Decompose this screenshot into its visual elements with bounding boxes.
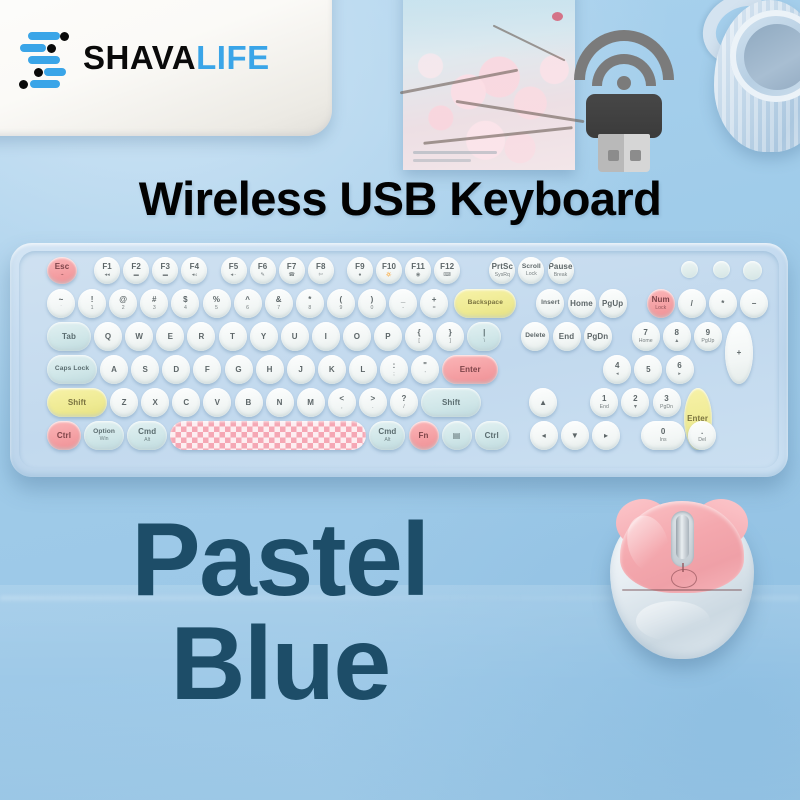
sakura-caption-line bbox=[413, 159, 471, 162]
key-legend: . bbox=[701, 428, 703, 436]
key-legend: F10 bbox=[382, 263, 396, 271]
key-legend: Esc bbox=[55, 263, 70, 271]
key-sublegend: ▬ bbox=[134, 273, 139, 278]
key-1[interactable]: 1End bbox=[590, 388, 618, 417]
key-u[interactable]: U bbox=[281, 322, 309, 351]
key-legend: { bbox=[417, 329, 420, 337]
key-pgup[interactable]: PgUp bbox=[599, 289, 627, 318]
key-sublegend: Lock bbox=[655, 306, 666, 311]
key-[interactable]: !1 bbox=[78, 289, 106, 318]
key-legend: $ bbox=[183, 296, 188, 304]
key-l[interactable]: L bbox=[349, 355, 377, 384]
key-legend: K bbox=[329, 366, 335, 374]
key-sublegend: ✎ bbox=[260, 273, 264, 278]
key-legend: @ bbox=[119, 296, 127, 304]
key-legend: Shift bbox=[68, 399, 86, 407]
key-sublegend: 4 bbox=[184, 306, 187, 311]
key-9[interactable]: 9PgUp bbox=[694, 322, 722, 351]
key-legend: 0 bbox=[661, 428, 666, 436]
key-legend: _ bbox=[401, 296, 406, 304]
key-f[interactable]: F bbox=[193, 355, 221, 384]
page-title: Wireless USB Keyboard bbox=[0, 174, 800, 223]
key-enter[interactable]: Enter bbox=[442, 355, 498, 384]
key-num[interactable]: NumLock bbox=[647, 289, 675, 318]
dongle-usb-connector bbox=[598, 134, 650, 172]
key-legend: % bbox=[213, 296, 220, 304]
keyboard-keywell: Esc⌁F1◂◂F2▬F3▬F4◂◃F5◂··F6✎F7☎F8✄F9●F10🔅F… bbox=[19, 251, 779, 468]
key-legend: Scroll bbox=[522, 264, 541, 271]
key-shift[interactable]: Shift bbox=[47, 388, 107, 417]
key-legend: & bbox=[276, 296, 282, 304]
key-sublegend: ◂◃ bbox=[192, 273, 197, 278]
key-6[interactable]: 6▸ bbox=[666, 355, 694, 384]
key-pause[interactable]: PauseBreak bbox=[548, 257, 574, 284]
key-legend: Pause bbox=[548, 263, 572, 271]
stacked-bars-dots-logo-mark bbox=[14, 28, 70, 86]
key-legend: F5 bbox=[229, 263, 239, 271]
key-legend: 9 bbox=[706, 329, 711, 337]
key-legend: Delete bbox=[525, 333, 545, 340]
key-sublegend: ⌁ bbox=[60, 273, 63, 278]
usb-wireless-dongle-icon bbox=[573, 26, 675, 166]
key-[interactable]: ?/ bbox=[390, 388, 418, 417]
key-7[interactable]: 7Home bbox=[632, 322, 660, 351]
key-sublegend: ✄ bbox=[319, 273, 323, 278]
key-q[interactable]: Q bbox=[94, 322, 122, 351]
key-sublegend: ▼ bbox=[633, 405, 638, 410]
key-sublegend: Ins bbox=[660, 438, 667, 443]
key-legend: U bbox=[292, 333, 298, 341]
key-legend: Shift bbox=[442, 399, 460, 407]
key-[interactable]: &7 bbox=[265, 289, 293, 318]
key-legend: PgDn bbox=[587, 333, 608, 341]
key-y[interactable]: Y bbox=[250, 322, 278, 351]
key-sublegend: ▸ bbox=[678, 372, 681, 377]
round-keycap-wireless-keyboard[interactable]: Esc⌁F1◂◂F2▬F3▬F4◂◃F5◂··F6✎F7☎F8✄F9●F10🔅F… bbox=[10, 243, 788, 477]
brand-logo: SHAVALIFE bbox=[14, 26, 270, 88]
key-[interactable]: ~` bbox=[47, 289, 75, 318]
key-legend: F6 bbox=[258, 263, 268, 271]
dongle-housing bbox=[586, 94, 662, 138]
key-k[interactable]: K bbox=[318, 355, 346, 384]
key-shift[interactable]: Shift bbox=[421, 388, 481, 417]
key-caps-lock[interactable]: Caps Lock bbox=[47, 355, 97, 384]
key-8[interactable]: 8▲ bbox=[663, 322, 691, 351]
key-0[interactable]: 0Ins bbox=[641, 421, 685, 450]
key-legend: W bbox=[135, 333, 143, 341]
key-sublegend: Alt bbox=[384, 438, 390, 443]
key-sublegend: ` bbox=[60, 306, 62, 311]
key-legend: F2 bbox=[131, 263, 141, 271]
key-f8[interactable]: F8✄ bbox=[308, 257, 334, 284]
key-legend: " bbox=[423, 362, 427, 370]
brand-name-primary: SHAVA bbox=[83, 39, 196, 76]
key-x[interactable]: X bbox=[141, 388, 169, 417]
key-legend: F7 bbox=[287, 263, 297, 271]
key-[interactable]: _- bbox=[389, 289, 417, 318]
key-legend: B bbox=[246, 399, 252, 407]
key-legend: Tab bbox=[62, 333, 76, 341]
key-[interactable]: "' bbox=[411, 355, 439, 384]
key-sublegend: ' bbox=[425, 372, 426, 377]
key-legend: Y bbox=[261, 333, 266, 341]
key-legend: F11 bbox=[411, 263, 425, 271]
key-legend: O bbox=[354, 333, 360, 341]
key-legend: Num bbox=[652, 296, 670, 304]
mouse-shell-seam bbox=[622, 589, 742, 591]
sakura-caption-line bbox=[413, 151, 497, 154]
key-legend: ▸ bbox=[604, 432, 608, 440]
key-t[interactable]: T bbox=[219, 322, 247, 351]
key-sublegend: . bbox=[372, 405, 373, 410]
key-option[interactable]: OptionWin bbox=[84, 421, 124, 450]
key-sublegend: ▬ bbox=[163, 273, 168, 278]
key-legend: A bbox=[111, 366, 117, 374]
key-legend: I bbox=[325, 333, 327, 341]
key-sublegend: Lock bbox=[526, 272, 537, 277]
key-o[interactable]: O bbox=[343, 322, 371, 351]
key-e[interactable]: E bbox=[156, 322, 184, 351]
key-[interactable]: += bbox=[420, 289, 448, 318]
key-sublegend: ▲ bbox=[674, 339, 679, 344]
colorway-line-2: Blue bbox=[0, 616, 560, 714]
sakura-bud bbox=[552, 12, 563, 21]
key-n[interactable]: N bbox=[266, 388, 294, 417]
key-z[interactable]: Z bbox=[110, 388, 138, 417]
key-sublegend: 🔅 bbox=[386, 273, 392, 278]
key-legend: Insert bbox=[541, 300, 560, 307]
key-a[interactable]: A bbox=[100, 355, 128, 384]
key-sublegend: ● bbox=[358, 273, 361, 278]
key-[interactable]: ▤ bbox=[442, 421, 472, 450]
key-5[interactable]: 5 bbox=[634, 355, 662, 384]
key-legend: ) bbox=[371, 296, 374, 304]
key-[interactable]: / bbox=[678, 289, 706, 318]
usb-contact-pin bbox=[630, 150, 641, 161]
key-legend: PgUp bbox=[602, 300, 623, 308]
key-3[interactable]: 3PgDn bbox=[653, 388, 681, 417]
key-legend: R bbox=[198, 333, 204, 341]
key-legend: Ctrl bbox=[485, 432, 499, 440]
key-legend: J bbox=[298, 366, 303, 374]
key-legend: Ctrl bbox=[57, 432, 71, 440]
key-legend: D bbox=[173, 366, 179, 374]
key-legend: 5 bbox=[646, 366, 651, 374]
key-s[interactable]: S bbox=[131, 355, 159, 384]
key-legend: } bbox=[449, 329, 452, 337]
key-ctrl[interactable]: Ctrl bbox=[47, 421, 81, 450]
colorway-label: Pastel Blue bbox=[0, 512, 560, 714]
key-r[interactable]: R bbox=[187, 322, 215, 351]
key-sublegend: SysRq bbox=[495, 273, 510, 278]
key-[interactable]: #3 bbox=[140, 289, 168, 318]
key-sublegend: ] bbox=[449, 339, 450, 344]
key-sublegend: Win bbox=[100, 437, 109, 442]
key-p[interactable]: P bbox=[374, 322, 402, 351]
key-[interactable]: − bbox=[740, 289, 768, 318]
key-sublegend: [ bbox=[418, 339, 419, 344]
brand-wordmark: SHAVALIFE bbox=[83, 41, 270, 74]
key-legend: 4 bbox=[615, 362, 620, 370]
key-sublegend: 0 bbox=[371, 306, 374, 311]
key-fn[interactable]: Fn bbox=[409, 421, 439, 450]
key-legend: 6 bbox=[677, 362, 682, 370]
key-f11[interactable]: F11◉ bbox=[405, 257, 431, 284]
colorway-line-1: Pastel bbox=[0, 512, 560, 610]
key-legend: + bbox=[737, 349, 742, 357]
key-[interactable]: @2 bbox=[109, 289, 137, 318]
key-sublegend: ◂◂ bbox=[104, 273, 109, 278]
key-sublegend: ☎ bbox=[288, 273, 294, 278]
key-legend: T bbox=[230, 333, 235, 341]
key-legend: > bbox=[371, 395, 376, 403]
key-[interactable]: .Del bbox=[688, 421, 716, 450]
key-i[interactable]: I bbox=[312, 322, 340, 351]
key-f12[interactable]: F12⌨ bbox=[434, 257, 460, 284]
key-[interactable]: ^6 bbox=[234, 289, 262, 318]
key-ctrl[interactable]: Ctrl bbox=[475, 421, 509, 450]
mouse-dpi-button[interactable] bbox=[671, 569, 697, 588]
key-sublegend: Alt bbox=[144, 438, 150, 443]
key-delete[interactable]: Delete bbox=[521, 322, 549, 351]
key-sublegend: 2 bbox=[122, 306, 125, 311]
key-c[interactable]: C bbox=[172, 388, 200, 417]
key-f3[interactable]: F3▬ bbox=[152, 257, 178, 284]
key-j[interactable]: J bbox=[287, 355, 315, 384]
key-[interactable]: (9 bbox=[327, 289, 355, 318]
key-h[interactable]: H bbox=[256, 355, 284, 384]
key-space[interactable] bbox=[170, 421, 366, 450]
key-legend: F bbox=[205, 366, 210, 374]
key-legend: PrtSc bbox=[492, 263, 513, 271]
key-legend: M bbox=[307, 399, 314, 407]
key-legend: * bbox=[721, 300, 724, 308]
key-legend: C bbox=[183, 399, 189, 407]
key-2[interactable]: 2▼ bbox=[621, 388, 649, 417]
key-legend: P bbox=[385, 333, 390, 341]
key-sublegend: End bbox=[600, 405, 609, 410]
key-sublegend: \ bbox=[484, 339, 485, 344]
key-f1[interactable]: F1◂◂ bbox=[94, 257, 120, 284]
key-w[interactable]: W bbox=[125, 322, 153, 351]
key-[interactable]: <, bbox=[328, 388, 356, 417]
key-sublegend: - bbox=[402, 306, 404, 311]
key-[interactable]: ◂ bbox=[530, 421, 558, 450]
cherry-blossom-photo-card bbox=[403, 0, 575, 170]
key-legend: * bbox=[308, 296, 311, 304]
key-legend: N bbox=[277, 399, 283, 407]
key-legend: 3 bbox=[664, 395, 669, 403]
key-legend: 8 bbox=[675, 329, 680, 337]
key-legend: 2 bbox=[633, 395, 638, 403]
key-legend: F3 bbox=[161, 263, 171, 271]
key-f6[interactable]: F6✎ bbox=[250, 257, 276, 284]
key-[interactable]: ▸ bbox=[592, 421, 620, 450]
led-indicator-3 bbox=[743, 261, 762, 280]
wifi-signal-dot bbox=[617, 76, 631, 90]
key-legend: Cmd bbox=[138, 428, 156, 436]
key-legend: 7 bbox=[643, 329, 648, 337]
key-cmd[interactable]: CmdAlt bbox=[127, 421, 167, 450]
key-legend: ▤ bbox=[453, 432, 461, 440]
key-legend: ( bbox=[340, 296, 343, 304]
key-legend: : bbox=[393, 362, 396, 370]
brand-name-accent: LIFE bbox=[196, 39, 270, 76]
key-f5[interactable]: F5◂·· bbox=[221, 257, 247, 284]
sakura-sky bbox=[403, 0, 575, 58]
key-sublegend: = bbox=[433, 306, 436, 311]
key-legend: Option bbox=[93, 429, 115, 436]
key-sublegend: ◂ bbox=[616, 372, 619, 377]
key-[interactable]: >. bbox=[359, 388, 387, 417]
key-sublegend: Home bbox=[639, 339, 653, 344]
key-legend: H bbox=[267, 366, 273, 374]
key-legend: Fn bbox=[419, 432, 429, 440]
key-[interactable]: %5 bbox=[203, 289, 231, 318]
key-legend: + bbox=[432, 296, 437, 304]
key-legend: Cmd bbox=[378, 428, 396, 436]
key-sublegend: , bbox=[341, 405, 342, 410]
key-[interactable]: :; bbox=[380, 355, 408, 384]
key-legend: / bbox=[691, 300, 693, 308]
key-sublegend: ; bbox=[393, 372, 394, 377]
key-legend: S bbox=[142, 366, 147, 374]
key-sublegend: 3 bbox=[153, 306, 156, 311]
key-sublegend: PgUp bbox=[701, 339, 714, 344]
key-[interactable]: ▲ bbox=[529, 388, 557, 417]
key-sublegend: 1 bbox=[91, 306, 94, 311]
key-legend: G bbox=[235, 366, 241, 374]
key-legend: 1 bbox=[602, 395, 607, 403]
mouse-lower-highlight bbox=[636, 601, 710, 641]
key-legend: < bbox=[339, 395, 344, 403]
key-tab[interactable]: Tab bbox=[47, 322, 91, 351]
key-home[interactable]: Home bbox=[568, 289, 596, 318]
product-marketing-image: SHAVALIFE Wireless USB Keyboard bbox=[0, 0, 800, 800]
key-legend: E bbox=[168, 333, 173, 341]
usb-contact-pin bbox=[608, 150, 619, 161]
key-sublegend: 6 bbox=[246, 306, 249, 311]
key-f7[interactable]: F7☎ bbox=[279, 257, 305, 284]
key-legend: | bbox=[483, 329, 485, 337]
key-legend: ◂ bbox=[542, 432, 546, 440]
key-legend: F9 bbox=[355, 263, 365, 271]
key-insert[interactable]: Insert bbox=[536, 289, 564, 318]
key-sublegend: 7 bbox=[277, 306, 280, 311]
key-sublegend: Del bbox=[698, 438, 706, 443]
key-[interactable]: *8 bbox=[296, 289, 324, 318]
key-legend: Backspace bbox=[468, 300, 503, 307]
key-sublegend: ◂·· bbox=[230, 273, 236, 278]
key-sublegend: ⌨ bbox=[443, 273, 451, 278]
key-d[interactable]: D bbox=[162, 355, 190, 384]
key-f10[interactable]: F10🔅 bbox=[376, 257, 402, 284]
key-legend: End bbox=[559, 333, 574, 341]
key-legend: X bbox=[152, 399, 157, 407]
key-scroll[interactable]: ScrollLock bbox=[518, 257, 544, 284]
key-legend: F8 bbox=[316, 263, 326, 271]
key-f2[interactable]: F2▬ bbox=[123, 257, 149, 284]
key-[interactable]: * bbox=[709, 289, 737, 318]
key-sublegend: / bbox=[403, 405, 404, 410]
key-legend: L bbox=[360, 366, 365, 374]
key-sublegend: PgDn bbox=[660, 405, 673, 410]
key-v[interactable]: V bbox=[203, 388, 231, 417]
key-[interactable]: ▼ bbox=[561, 421, 589, 450]
ceramic-mug-prop bbox=[700, 0, 800, 156]
led-indicator-1 bbox=[681, 261, 698, 278]
key-legend: ! bbox=[91, 296, 94, 304]
key-legend: ▲ bbox=[539, 399, 547, 407]
key-legend: Q bbox=[105, 333, 111, 341]
key-[interactable]: |\ bbox=[467, 322, 501, 351]
key-legend: Enter bbox=[460, 366, 481, 374]
key-sublegend: Break bbox=[554, 273, 568, 278]
key-f9[interactable]: F9● bbox=[347, 257, 373, 284]
key-legend: # bbox=[152, 296, 157, 304]
mouse-scroll-wheel[interactable] bbox=[676, 515, 689, 559]
key-backspace[interactable]: Backspace bbox=[454, 289, 516, 318]
key-legend: ? bbox=[402, 395, 407, 403]
key-legend: F1 bbox=[102, 263, 112, 271]
key-g[interactable]: G bbox=[225, 355, 253, 384]
key-legend: F12 bbox=[440, 263, 454, 271]
key-f4[interactable]: F4◂◃ bbox=[181, 257, 207, 284]
key-legend: Caps Lock bbox=[55, 366, 89, 373]
key-sublegend: 5 bbox=[215, 306, 218, 311]
key-legend: ▼ bbox=[571, 432, 579, 440]
key-legend: Home bbox=[570, 300, 593, 308]
key-[interactable]: }] bbox=[436, 322, 464, 351]
key-esc[interactable]: Esc⌁ bbox=[47, 257, 77, 284]
key-[interactable]: $4 bbox=[171, 289, 199, 318]
led-indicator-2 bbox=[713, 261, 730, 278]
key-legend: ^ bbox=[245, 296, 250, 304]
key-cmd[interactable]: CmdAlt bbox=[369, 421, 405, 450]
key-b[interactable]: B bbox=[235, 388, 263, 417]
key-legend: V bbox=[215, 399, 220, 407]
wireless-optical-mouse[interactable] bbox=[602, 497, 762, 661]
key-end[interactable]: End bbox=[553, 322, 581, 351]
key-[interactable]: )0 bbox=[358, 289, 386, 318]
key-[interactable]: {[ bbox=[405, 322, 433, 351]
key-legend: ~ bbox=[59, 296, 64, 304]
key-legend: F4 bbox=[190, 263, 200, 271]
key-pgdn[interactable]: PgDn bbox=[584, 322, 612, 351]
key-sublegend: 8 bbox=[308, 306, 311, 311]
key-sublegend: 9 bbox=[339, 306, 342, 311]
key-4[interactable]: 4◂ bbox=[603, 355, 631, 384]
key-[interactable]: + bbox=[725, 322, 753, 384]
key-legend: − bbox=[752, 300, 757, 308]
key-prtsc[interactable]: PrtScSysRq bbox=[489, 257, 515, 284]
key-m[interactable]: M bbox=[297, 388, 325, 417]
key-legend: Z bbox=[122, 399, 127, 407]
key-sublegend: ◉ bbox=[416, 273, 421, 278]
